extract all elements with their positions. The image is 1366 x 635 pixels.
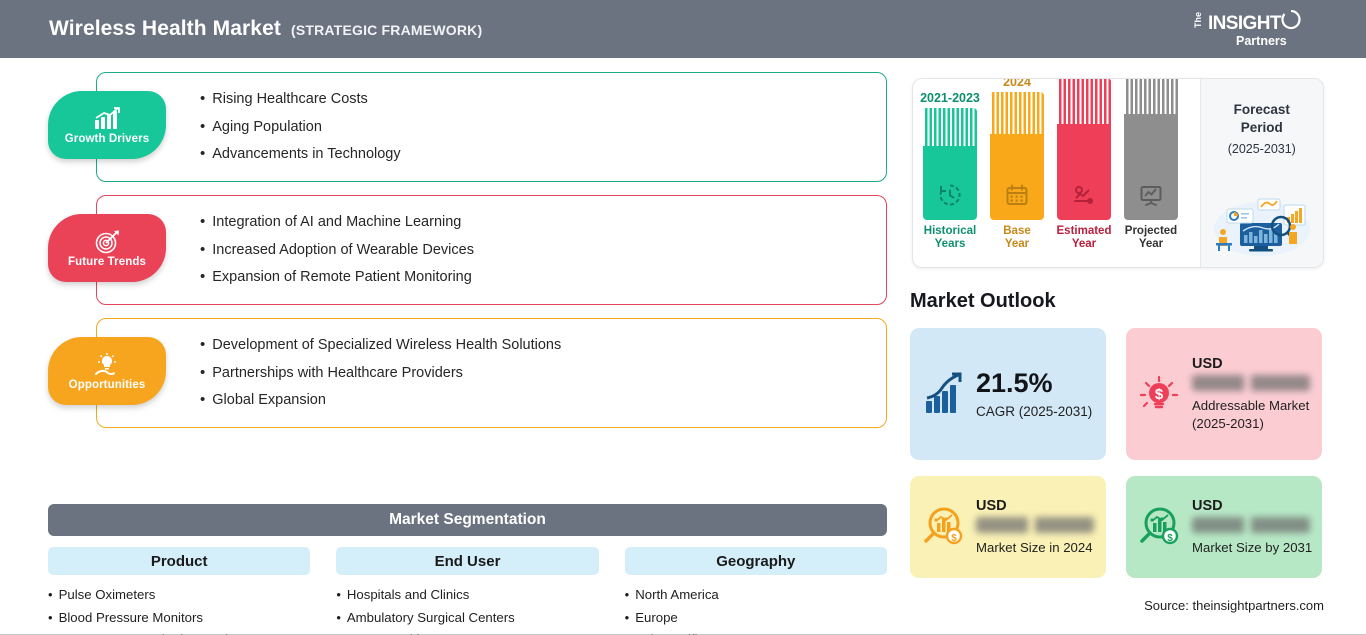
list-item-label: Development of Specialized Wireless Heal… — [212, 338, 561, 354]
card-caption: Market Size by 2031 — [1192, 539, 1312, 556]
list-item: •North America — [625, 587, 887, 604]
forecast-title-line1: Forecast — [1234, 102, 1290, 117]
bullet-dot: • — [48, 587, 53, 603]
bar-caption-line2: Year — [1005, 238, 1029, 250]
bullet-dot: • — [200, 392, 205, 407]
outlook-card-body: USD Market Size by 2031 — [1192, 498, 1320, 556]
list-item: •Expansion of Remote Patient Monitoring — [200, 269, 474, 286]
insight-partners-logo: The INSIGHT Partners — [1192, 7, 1310, 51]
presentation-chart-icon — [1138, 182, 1164, 208]
bar-caption: Estimated Year — [1057, 225, 1112, 251]
target-dartboard-icon — [92, 229, 122, 255]
cagr-value: 21.5% — [976, 370, 1092, 397]
forecast-bars-chart: 2021-2023 Historical Ye — [913, 79, 1200, 267]
bullet-dot: • — [200, 365, 205, 380]
list-item: •Hospitals and Clinics — [336, 587, 598, 604]
card-caption: Market Size in 2024 — [976, 539, 1094, 556]
forecast-period-range: (2025-2031) — [1228, 142, 1296, 156]
bar-year-label: 2024 — [1003, 78, 1031, 89]
list-item: •Global Expansion — [200, 392, 561, 409]
bar-stripes — [923, 108, 977, 146]
list-item-label: Europe — [635, 610, 678, 627]
badge-opportunities[interactable]: Opportunities — [48, 337, 166, 405]
segment-items-geography: •North America •Europe •Asia-Pacific — [625, 587, 887, 635]
outlook-card-market-size-2031[interactable]: $ USD Market Size by 2031 — [1126, 476, 1322, 578]
bar-caption-line1: Estimated — [1057, 225, 1112, 237]
market-outlook-cards: 21.5% CAGR (2025-2031) $ — [910, 328, 1322, 578]
bullet-dot: • — [336, 610, 341, 626]
svg-text:$: $ — [951, 533, 957, 544]
bullet-dot: • — [200, 214, 205, 229]
segment-column-geography: Geography •North America •Europe •Asia-P… — [625, 547, 887, 635]
list-item: •Pulse Oximeters — [48, 587, 310, 604]
list-item-label: Global Expansion — [212, 393, 326, 409]
market-segmentation-header: Market Segmentation — [48, 504, 887, 536]
outlook-card-body: USD Addressable Market (2025-2031) — [1192, 356, 1322, 432]
segment-items-end-user: •Hospitals and Clinics •Ambulatory Surgi… — [336, 587, 598, 635]
bar-stripes — [990, 92, 1044, 134]
bar-group-base: 2024 Base — [988, 78, 1046, 251]
outlook-card-body: 21.5% CAGR (2025-2031) — [976, 370, 1100, 419]
badge-label: Future Trends — [68, 256, 146, 268]
svg-text:The: The — [1193, 12, 1203, 28]
market-segmentation-title: Market Segmentation — [389, 511, 546, 529]
list-item-label: Increased Adoption of Wearable Devices — [212, 243, 474, 259]
bar-stripes — [1057, 78, 1111, 124]
list-item: •Europe — [625, 610, 887, 627]
bar-estimated — [1057, 78, 1111, 220]
bar-caption: Projected Year — [1125, 225, 1177, 251]
bar-caption-line2: Year — [1072, 238, 1096, 250]
segment-items-product: •Pulse Oximeters •Blood Pressure Monitor… — [48, 587, 310, 635]
list-item: •Blood Pressure Monitors — [48, 610, 310, 627]
bullet-dot: • — [200, 337, 205, 352]
bar-caption-line1: Base — [1003, 225, 1031, 237]
currency-label: USD — [1192, 498, 1312, 514]
bar-projected — [1124, 78, 1178, 220]
clock-history-icon — [937, 182, 963, 208]
svg-text:INSIGHT: INSIGHT — [1208, 13, 1282, 34]
svg-text:$: $ — [1155, 386, 1164, 403]
business-analytics-illustration — [1210, 193, 1314, 259]
bar-caption-line1: Projected — [1125, 225, 1177, 237]
bar-caption-line1: Historical — [924, 225, 976, 237]
bar-chart-arrow-icon — [920, 371, 966, 417]
segment-heading-product: Product — [48, 547, 310, 575]
bullet-dot: • — [200, 242, 205, 257]
badge-growth-drivers[interactable]: Growth Drivers — [48, 91, 166, 159]
page-subtitle: (STRATEGIC FRAMEWORK) — [291, 22, 482, 38]
svg-text:Partners: Partners — [1236, 34, 1287, 48]
blurred-value — [1192, 375, 1310, 391]
page-title: Wireless Health Market — [49, 17, 281, 41]
segmentation-columns: Product •Pulse Oximeters •Blood Pressure… — [48, 547, 887, 635]
outlook-card-addressable-market[interactable]: $ USD Addressable Market (2025-2031) — [1126, 328, 1322, 460]
list-item-label: Expansion of Remote Patient Monitoring — [212, 270, 472, 286]
bullet-dot: • — [625, 610, 630, 626]
lightbulb-dollar-icon: $ — [1136, 371, 1182, 417]
bar-year-label: 2021-2023 — [920, 91, 980, 105]
badge-future-trends[interactable]: Future Trends — [48, 214, 166, 282]
list-item: •Increased Adoption of Wearable Devices — [200, 242, 474, 259]
outlook-card-cagr[interactable]: 21.5% CAGR (2025-2031) — [910, 328, 1106, 460]
segment-heading-label: End User — [435, 553, 501, 570]
list-item-label: Blood Pressure Monitors — [59, 610, 203, 627]
right-column: 2021-2023 Historical Ye — [900, 58, 1366, 635]
svg-text:$: $ — [1167, 533, 1173, 544]
forecast-period-card: 2021-2023 Historical Ye — [912, 78, 1324, 268]
badge-label: Opportunities — [69, 379, 146, 391]
list-item-label: Integration of AI and Machine Learning — [212, 215, 461, 231]
list-item: •Ambulatory Surgical Centers — [336, 610, 598, 627]
page-header: Wireless Health Market (STRATEGIC FRAMEW… — [0, 0, 1366, 58]
bar-caption-line2: Years — [935, 238, 966, 250]
list-item-label: Advancements in Technology — [212, 147, 400, 163]
segment-heading-geography: Geography — [625, 547, 887, 575]
forecast-period-title: Forecast Period — [1234, 101, 1290, 137]
segment-heading-end-user: End User — [336, 547, 598, 575]
forecast-analytics-icon — [1071, 182, 1097, 208]
magnifier-chart-dollar-icon: $ — [1136, 504, 1182, 550]
forecast-period-panel: Forecast Period (2025-2031) — [1200, 79, 1323, 267]
card-caption: Addressable Market (2025-2031) — [1192, 397, 1314, 432]
outlook-card-market-size-2024[interactable]: $ USD Market Size in 2024 — [910, 476, 1106, 578]
list-item-label: Pulse Oximeters — [59, 587, 156, 604]
bar-stripes — [1124, 78, 1178, 114]
list-item-label: Ambulatory Surgical Centers — [347, 610, 515, 627]
bar-caption-line2: Year — [1139, 238, 1163, 250]
infographic-page: Wireless Health Market (STRATEGIC FRAMEW… — [0, 0, 1366, 635]
bar-caption: Historical Years — [924, 225, 976, 251]
list-item: •Aging Population — [200, 119, 401, 136]
segment-heading-label: Geography — [716, 553, 795, 570]
cagr-caption: CAGR (2025-2031) — [976, 404, 1092, 419]
list-item-label: Rising Healthcare Costs — [212, 92, 368, 108]
bar-historical — [923, 108, 977, 220]
currency-label: USD — [1192, 356, 1314, 372]
blurred-value — [1192, 517, 1310, 533]
bullet-dot: • — [200, 269, 205, 284]
opportunities-list: •Development of Specialized Wireless Hea… — [200, 318, 561, 428]
bullet-dot: • — [200, 119, 205, 134]
bullet-dot: • — [336, 587, 341, 603]
list-item-label: Partnerships with Healthcare Providers — [212, 366, 463, 382]
forecast-title-line2: Period — [1241, 120, 1283, 135]
bullet-dot: • — [200, 91, 205, 106]
bar-base — [990, 92, 1044, 220]
list-item: •Integration of AI and Machine Learning — [200, 214, 474, 231]
list-item: •Rising Healthcare Costs — [200, 91, 401, 108]
bar-group-historical: 2021-2023 Historical Ye — [921, 91, 979, 251]
calendar-icon — [1004, 182, 1030, 208]
header-title-group: Wireless Health Market (STRATEGIC FRAMEW… — [49, 17, 482, 41]
list-item: •Development of Specialized Wireless Hea… — [200, 337, 561, 354]
list-item-label: Aging Population — [212, 120, 322, 136]
badge-label: Growth Drivers — [65, 133, 149, 145]
growth-drivers-list: •Rising Healthcare Costs •Aging Populati… — [200, 72, 401, 182]
future-trends-list: •Integration of AI and Machine Learning … — [200, 195, 474, 305]
segment-column-product: Product •Pulse Oximeters •Blood Pressure… — [48, 547, 310, 635]
magnifier-chart-dollar-icon: $ — [920, 504, 966, 550]
blurred-value — [976, 517, 1094, 533]
outlook-card-body: USD Market Size in 2024 — [976, 498, 1102, 556]
bullet-dot: • — [625, 587, 630, 603]
bullet-dot: • — [200, 146, 205, 161]
list-item-label: Hospitals and Clinics — [347, 587, 469, 604]
bar-group-projected: 2031 Projected Year — [1122, 78, 1180, 251]
market-outlook-title: Market Outlook — [910, 290, 1056, 313]
source-attribution: Source: theinsightpartners.com — [1144, 598, 1324, 613]
segment-column-end-user: End User •Hospitals and Clinics •Ambulat… — [336, 547, 598, 635]
currency-label: USD — [976, 498, 1094, 514]
bar-caption: Base Year — [1003, 225, 1031, 251]
lightbulb-hand-icon — [92, 352, 122, 378]
list-item: •Advancements in Technology — [200, 146, 401, 163]
bullet-dot: • — [48, 610, 53, 626]
bar-group-estimated: 2025 Estimated — [1055, 78, 1113, 251]
segment-heading-label: Product — [151, 553, 208, 570]
left-column: Growth Drivers •Rising Healthcare Costs … — [0, 58, 900, 635]
bar-chart-growth-icon — [92, 106, 122, 132]
list-item-label: North America — [635, 587, 719, 604]
list-item: •Partnerships with Healthcare Providers — [200, 365, 561, 382]
